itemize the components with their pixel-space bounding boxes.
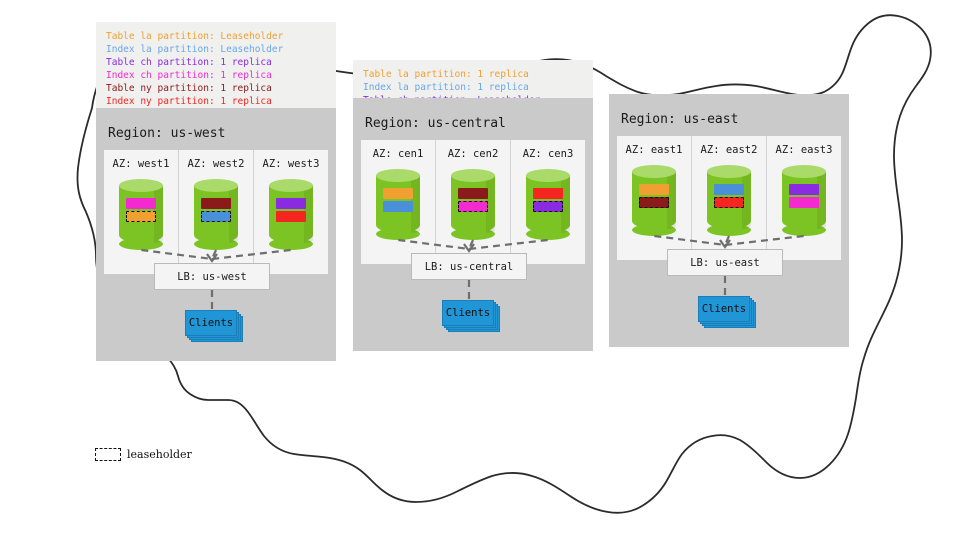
partition-line: Table ch partition: 1 replica xyxy=(106,56,326,69)
region-cluster-us-east: Table la partition: 1 replicaIndex la pa… xyxy=(609,98,849,387)
diagram-canvas: Table la partition: LeaseholderIndex la … xyxy=(0,0,960,540)
clients-label: Clients xyxy=(442,300,494,326)
clients-stack-us-west[interactable]: Clients xyxy=(185,310,241,340)
region-cluster-us-west: Table la partition: LeaseholderIndex la … xyxy=(96,22,336,401)
region-panel-us-east: Region: us-eastAZ: east1AZ: east2AZ: eas… xyxy=(609,94,849,347)
clients-label: Clients xyxy=(185,310,237,336)
partition-info-panel-us-west: Table la partition: LeaseholderIndex la … xyxy=(96,22,336,108)
leaseholder-legend: leaseholder xyxy=(95,448,192,461)
partition-line: Table la partition: Leaseholder xyxy=(106,30,326,43)
region-panel-us-west: Region: us-westAZ: west1AZ: west2AZ: wes… xyxy=(96,108,336,361)
load-balancer-us-central[interactable]: LB: us-central xyxy=(411,253,527,280)
partition-line: Table la partition: 1 replica xyxy=(363,68,583,81)
load-balancer-us-east[interactable]: LB: us-east xyxy=(667,249,783,276)
region-panel-us-central: Region: us-centralAZ: cen1AZ: cen2AZ: ce… xyxy=(353,98,593,351)
clients-stack-us-central[interactable]: Clients xyxy=(442,300,498,330)
partition-line: Index ny partition: 1 replica xyxy=(106,95,326,108)
partition-line: Index ch partition: 1 replica xyxy=(106,69,326,82)
partition-line: Table ny partition: 1 replica xyxy=(106,82,326,95)
leaseholder-legend-label: leaseholder xyxy=(127,448,192,461)
region-cluster-us-central: Table la partition: 1 replicaIndex la pa… xyxy=(353,60,593,391)
clients-stack-us-east[interactable]: Clients xyxy=(698,296,754,326)
partition-line: Index la partition: 1 replica xyxy=(363,81,583,94)
dashed-rectangle-icon xyxy=(95,448,121,461)
clients-label: Clients xyxy=(698,296,750,322)
load-balancer-us-west[interactable]: LB: us-west xyxy=(154,263,270,290)
partition-line: Index la partition: Leaseholder xyxy=(106,43,326,56)
